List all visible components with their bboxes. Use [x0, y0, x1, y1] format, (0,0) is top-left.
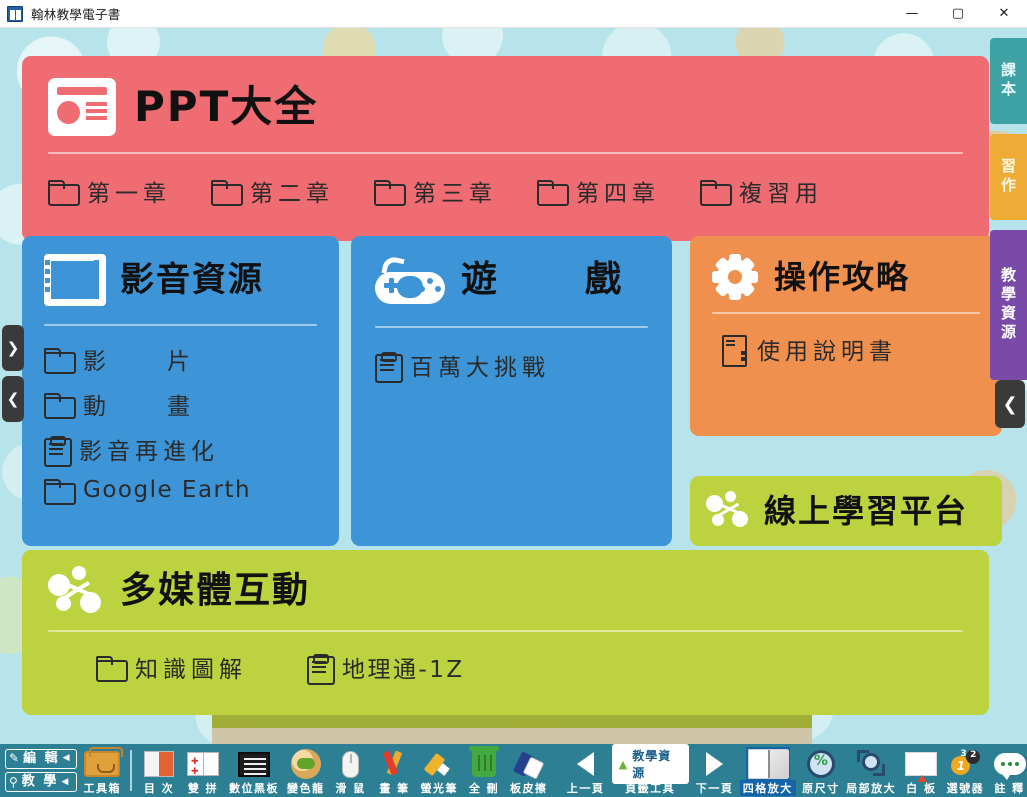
close-button[interactable]: ✕	[981, 0, 1027, 28]
teach-mode-button[interactable]: ⚲ 教 學 ◀	[5, 772, 77, 792]
dual-page-icon	[187, 752, 219, 776]
sidebar-item-resource[interactable]: 教學資源	[990, 230, 1027, 380]
chevron-left-icon: ◀	[61, 777, 70, 788]
toc-icon	[144, 751, 174, 777]
item-label: 第四章	[576, 174, 660, 208]
tool-chameleon[interactable]: 變色龍	[283, 744, 329, 797]
card-game-items: 百萬大挑戰	[375, 348, 648, 382]
window-title: 翰林教學電子書	[31, 4, 121, 23]
toolbar-group-toolbox: 工具箱	[80, 744, 126, 797]
tool-label: 上一頁	[567, 780, 605, 796]
pointer-icon: ⚲	[9, 775, 20, 790]
window-controls: — ▢ ✕	[889, 0, 1027, 28]
toolbar-divider	[130, 750, 132, 791]
pen-icon	[381, 750, 409, 778]
highlighter-icon	[425, 751, 453, 777]
card-video-title: 影音資源	[120, 263, 264, 297]
mode-buttons: ✎ 編 輯 ◀ ⚲ 教 學 ◀	[2, 744, 80, 797]
item-label: 知識圖解	[135, 650, 247, 684]
region-zoom-icon	[857, 750, 885, 778]
blackboard-icon	[238, 752, 270, 777]
app-window: 翰林教學電子書 — ▢ ✕ PPT大全	[0, 0, 1027, 797]
item-label: 百萬大挑戰	[410, 348, 550, 382]
tool-prev-page[interactable]: 上一頁	[564, 744, 608, 797]
tool-label: 四格放大	[740, 780, 796, 796]
tool-quad-zoom[interactable]: 四格放大	[737, 744, 799, 797]
item-media-0[interactable]: 知識圖解	[96, 650, 247, 684]
network-icon	[706, 491, 752, 531]
item-label: 複習用	[739, 174, 823, 208]
title-bar: 翰林教學電子書 — ▢ ✕	[0, 0, 1027, 28]
tool-label: 選號器	[947, 780, 985, 796]
eraser-icon	[515, 751, 543, 777]
toolbox-icon	[84, 751, 120, 777]
card-guide-items: 使用說明書	[712, 332, 980, 366]
tool-label: 板皮擦	[510, 780, 548, 796]
item-label: Google Earth	[83, 477, 251, 503]
sidebar-item-textbook[interactable]: 課本	[990, 38, 1027, 124]
chevron-up-icon: ▲	[619, 758, 628, 771]
card-media-title: 多媒體互動	[120, 573, 310, 609]
item-video-3[interactable]: Google Earth	[44, 477, 317, 503]
tool-next-page[interactable]: 下一頁	[693, 744, 737, 797]
quad-zoom-icon	[748, 749, 788, 779]
item-media-1[interactable]: 地理通-1Z	[307, 650, 465, 684]
item-video-2[interactable]: 影音再進化	[44, 432, 317, 466]
side-tab-rail: 課本 習作 教學資源 ❮	[990, 28, 1027, 744]
expand-right-button[interactable]: ❯	[2, 325, 24, 371]
gear-icon	[712, 254, 758, 300]
chevron-left-icon: ◀	[63, 753, 72, 764]
card-game-title: 遊 戲	[461, 262, 647, 298]
gamepad-icon	[375, 256, 445, 304]
item-label: 影 片	[83, 342, 195, 376]
sidebar-item-workbook[interactable]: 習作	[990, 134, 1027, 220]
item-label: 影音再進化	[79, 432, 219, 466]
folder-icon	[48, 180, 76, 202]
clipboard-icon	[375, 352, 399, 379]
tool-toolbox[interactable]: 工具箱	[80, 744, 126, 797]
clipboard-icon	[44, 436, 68, 463]
item-ppt-1[interactable]: 第二章	[211, 174, 334, 208]
content-sheet-preview	[212, 714, 812, 744]
folder-icon	[537, 180, 565, 202]
network-icon	[48, 566, 104, 616]
toolbar-group-nav: 上一頁 ▲ 教學資源 頁籤工具 下一頁 四格放大	[564, 744, 1027, 797]
card-guide[interactable]: 操作攻略 使用說明書	[690, 236, 1002, 436]
mode-label: 編 輯	[23, 751, 60, 767]
card-game[interactable]: 遊 戲 百萬大挑戰	[351, 236, 672, 546]
tool-label: 白 板	[906, 780, 936, 796]
trash-icon	[472, 751, 496, 777]
sidebar-collapse-button[interactable]: ❮	[995, 380, 1025, 428]
tool-pen[interactable]: 畫 筆	[373, 744, 417, 797]
arrow-right-icon	[706, 752, 723, 776]
tool-label: 全 刪	[469, 780, 499, 796]
item-label: 第二章	[250, 174, 334, 208]
tool-page-tag[interactable]: ▲ 教學資源 頁籤工具	[608, 744, 693, 797]
tool-label: 雙 拼	[188, 780, 218, 796]
tool-label: 目 次	[144, 780, 174, 796]
item-ppt-4[interactable]: 複習用	[700, 174, 823, 208]
item-video-1[interactable]: 動 畫	[44, 387, 317, 421]
arrow-left-icon	[577, 752, 594, 776]
item-guide-0[interactable]: 使用說明書	[722, 332, 980, 366]
card-platform-title: 線上學習平台	[764, 495, 968, 527]
tool-label: 頁籤工具	[625, 780, 675, 796]
pencil-icon: ✎	[9, 751, 21, 766]
tool-label: 註 釋	[994, 780, 1024, 796]
tool-blackboard[interactable]: 數位黑板	[225, 744, 283, 797]
item-game-0[interactable]: 百萬大挑戰	[375, 348, 648, 382]
tool-number-picker[interactable]: 12 選號器	[943, 744, 987, 797]
whiteboard-icon	[905, 752, 937, 776]
page-tag-value: 教學資源	[632, 747, 681, 781]
annotation-icon	[994, 753, 1026, 775]
tool-label: 下一頁	[696, 780, 734, 796]
item-label: 使用說明書	[757, 332, 897, 366]
tool-clear-all[interactable]: 全 刪	[462, 744, 506, 797]
page-tag-dropdown[interactable]: ▲ 教學資源	[612, 744, 689, 784]
minimize-button[interactable]: —	[889, 0, 935, 28]
tool-label: 螢光筆	[421, 780, 459, 796]
clipboard-icon	[307, 654, 331, 681]
card-ppt-title: PPT大全	[134, 86, 318, 128]
item-label: 地理通-1Z	[342, 650, 465, 684]
tool-eraser[interactable]: 板皮擦	[506, 744, 552, 797]
presentation-icon	[48, 78, 116, 136]
item-ppt-3[interactable]: 第四章	[537, 174, 660, 208]
card-media[interactable]: 多媒體互動 知識圖解 地理通-1Z	[22, 550, 989, 715]
tool-label: 畫 筆	[379, 780, 409, 796]
folder-icon	[44, 393, 72, 415]
folder-icon	[700, 180, 728, 202]
folder-icon	[96, 656, 124, 678]
card-ppt-rule	[48, 152, 963, 154]
maximize-button[interactable]: ▢	[935, 0, 981, 28]
item-ppt-2[interactable]: 第三章	[374, 174, 497, 208]
book-app-icon	[7, 6, 23, 22]
number-picker-icon: 12	[950, 750, 980, 778]
manual-icon	[722, 335, 746, 363]
tool-highlighter[interactable]: 螢光筆	[417, 744, 463, 797]
bottom-toolbar: ✎ 編 輯 ◀ ⚲ 教 學 ◀ 工具箱 目 次 雙	[0, 744, 1027, 797]
tool-label: 原尺寸	[802, 780, 840, 796]
item-video-0[interactable]: 影 片	[44, 342, 317, 376]
actual-size-icon	[807, 750, 835, 778]
tool-label: 局部放大	[846, 780, 896, 796]
folder-icon	[44, 479, 72, 501]
tool-label: 變色龍	[287, 780, 325, 796]
tool-actual-size[interactable]: 原尺寸	[799, 744, 843, 797]
edit-mode-button[interactable]: ✎ 編 輯 ◀	[5, 749, 77, 769]
tool-mouse[interactable]: 滑 鼠	[329, 744, 373, 797]
card-ppt-items: 第一章 第二章 第三章 第四章 複習用	[48, 174, 963, 208]
folder-icon	[374, 180, 402, 202]
mouse-icon	[342, 751, 359, 778]
mode-label: 教 學	[22, 774, 59, 790]
card-media-rule	[48, 630, 963, 632]
card-platform[interactable]: 線上學習平台	[690, 476, 1002, 546]
tool-label: 工具箱	[84, 780, 122, 796]
chameleon-icon	[291, 749, 321, 779]
card-ppt[interactable]: PPT大全 第一章 第二章 第三章 第四章	[22, 56, 989, 241]
tool-label: 數位黑板	[229, 780, 279, 796]
card-video[interactable]: 影音資源 影 片 動 畫 影音再進化 Google Eart	[22, 236, 339, 546]
card-game-rule	[375, 326, 648, 328]
toolbar-group-tools: 目 次 雙 拼 數位黑板 變色龍 滑 鼠 畫 筆	[137, 744, 552, 797]
item-label: 第三章	[413, 174, 497, 208]
tool-annotation[interactable]: 註 釋	[988, 744, 1027, 797]
film-icon	[44, 254, 106, 306]
item-label: 動 畫	[83, 387, 195, 421]
collapse-left-button[interactable]: ❮	[2, 376, 24, 422]
folder-icon	[44, 348, 72, 370]
card-video-items: 影 片 動 畫 影音再進化 Google Earth	[44, 342, 317, 503]
tool-toc[interactable]: 目 次	[137, 744, 181, 797]
tool-label: 滑 鼠	[335, 780, 365, 796]
tool-dual-page[interactable]: 雙 拼	[181, 744, 225, 797]
page-canvas: PPT大全 第一章 第二章 第三章 第四章	[0, 28, 1027, 744]
item-label: 第一章	[87, 174, 171, 208]
card-guide-rule	[712, 312, 980, 314]
card-video-rule	[44, 324, 317, 326]
tool-region-zoom[interactable]: 局部放大	[843, 744, 899, 797]
card-guide-title: 操作攻略	[774, 261, 910, 293]
item-ppt-0[interactable]: 第一章	[48, 174, 171, 208]
card-media-items: 知識圖解 地理通-1Z	[48, 650, 963, 684]
folder-icon	[211, 180, 239, 202]
tool-whiteboard[interactable]: 白 板	[899, 744, 943, 797]
